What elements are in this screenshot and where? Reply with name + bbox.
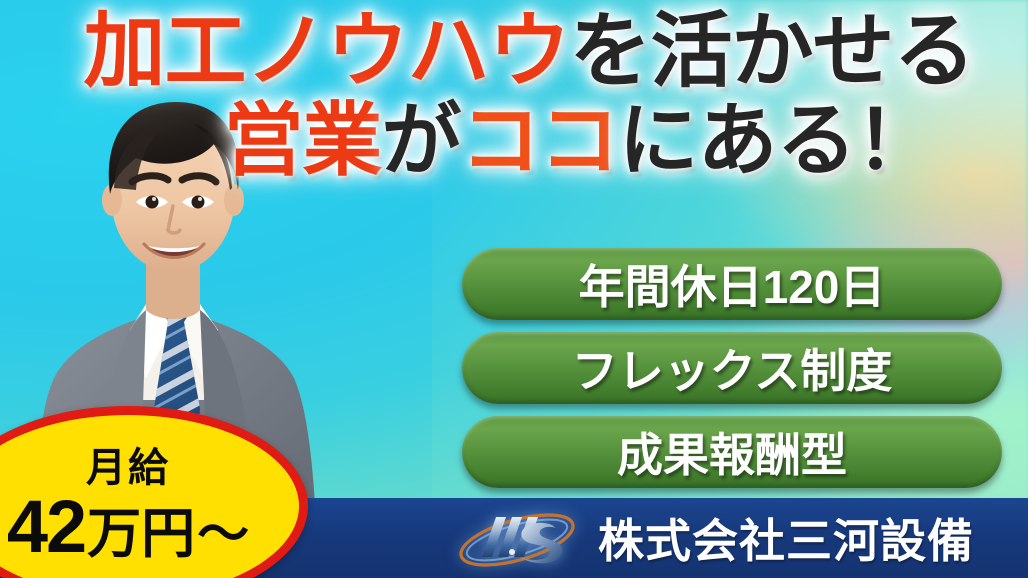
company-name: 株式会社三河設備 [598,505,974,571]
benefit-pill-2: 成果報酬型 [462,416,1002,488]
salary-amount-number: 42 [7,490,85,564]
ms-swoosh-logo-icon [452,507,582,569]
benefits-list: 年間休日120日 フレックス制度 成果報酬型 [462,248,1002,488]
benefit-pill-1: フレックス制度 [462,332,1002,404]
benefit-pill-2-label: 成果報酬型 [617,419,847,485]
job-ad-banner: 加工ノウハウを活かせる 営業がココにある！ 年間休日120日 フレックス制度 成… [0,0,1028,578]
salary-amount-suffix: 〜 [197,509,249,561]
benefit-pill-1-label: フレックス制度 [572,335,893,401]
salary-label: 月給 [86,448,170,488]
benefit-pill-0: 年間休日120日 [462,248,1002,320]
salary-amount-unit: 万円 [87,507,195,561]
salary-amount: 42 万円 〜 [7,490,249,564]
benefit-pill-0-label: 年間休日120日 [579,251,886,317]
